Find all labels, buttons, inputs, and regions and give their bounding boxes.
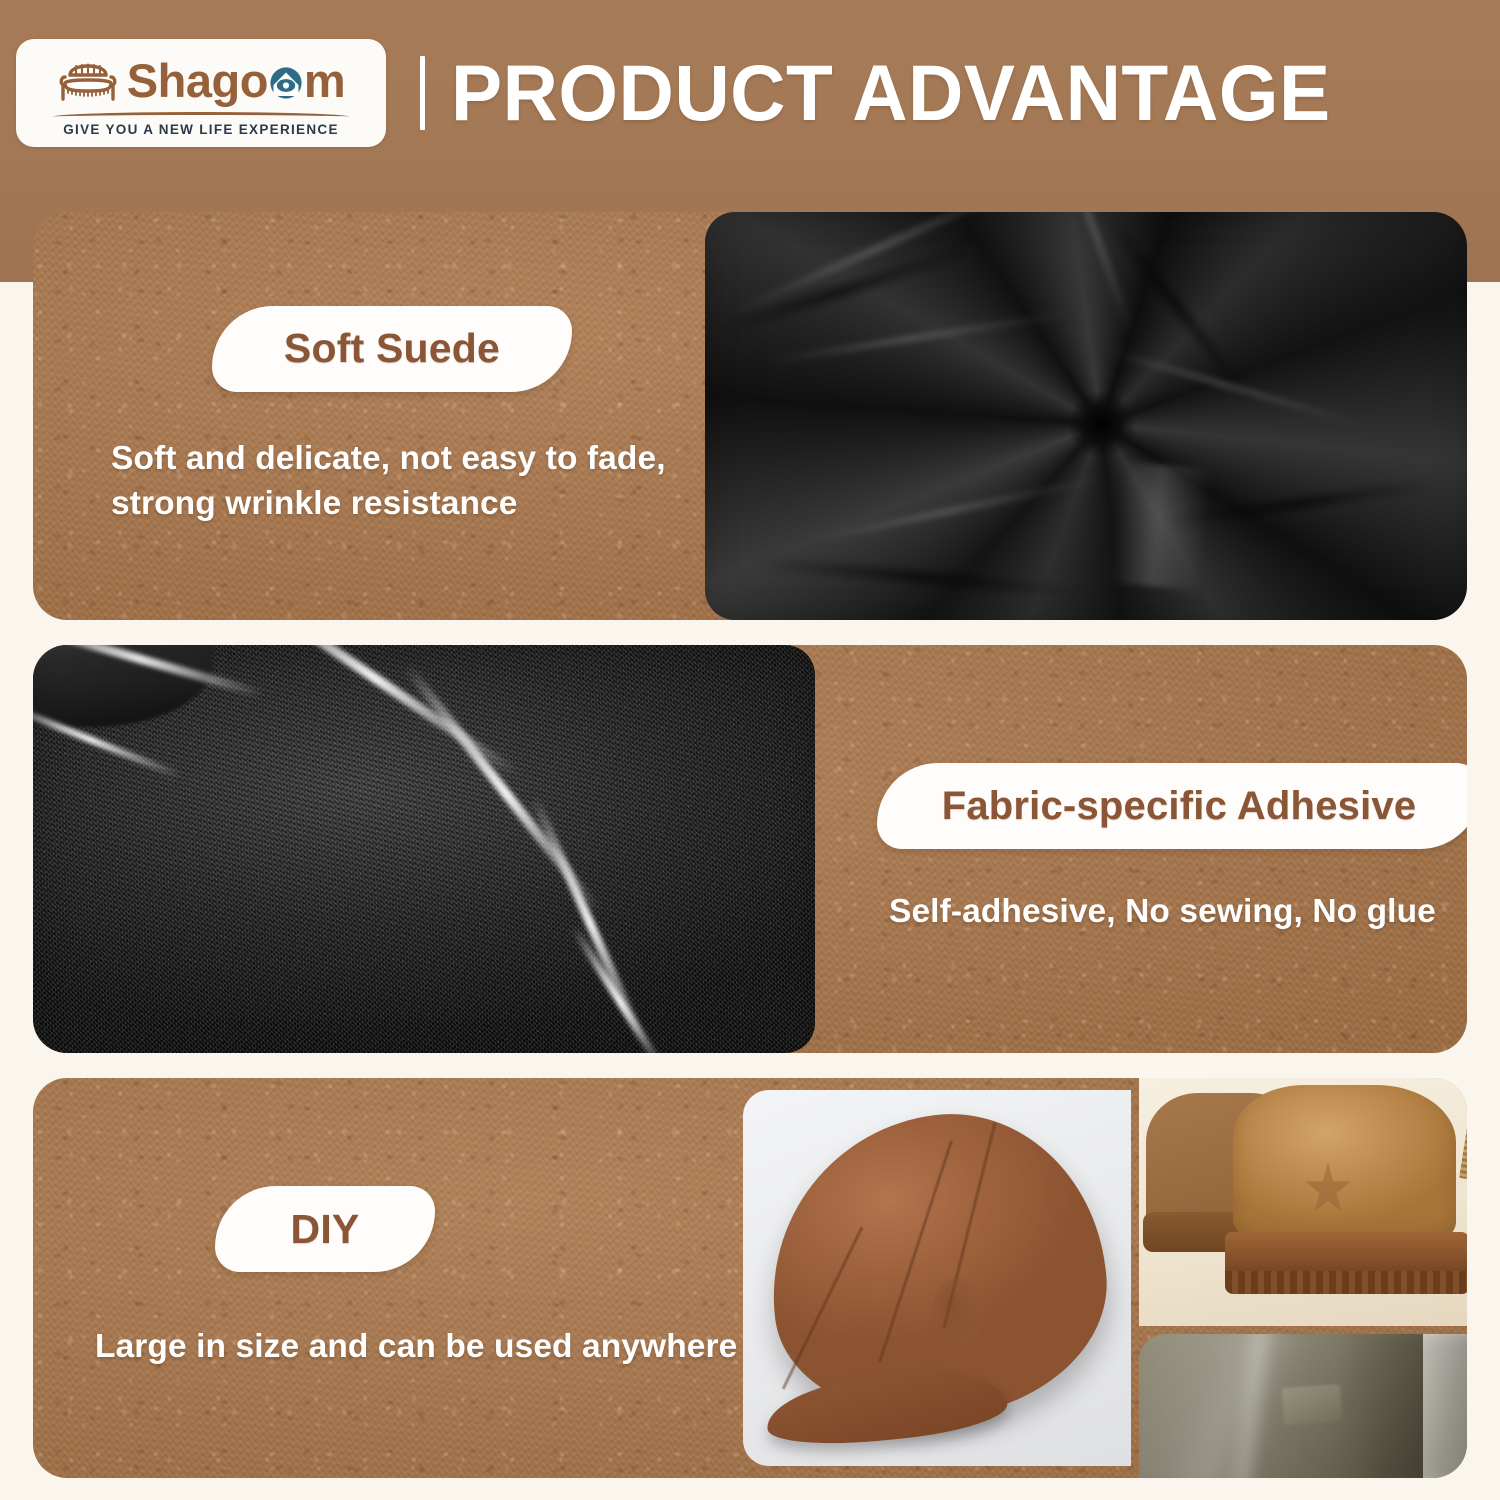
brand-logo-plate: Shag o m GIVE [16,39,386,147]
header-row: Shag o m GIVE [0,0,1500,185]
card-2-description: Self-adhesive, No sewing, No glue [889,889,1436,934]
card-3-description: Large in size and can be used anywhere [95,1324,743,1369]
brown-suede-flat-cap-photo [743,1090,1131,1466]
brand-wordmark: Shag o m [127,57,345,104]
olive-suede-garment-photo [1139,1334,1467,1478]
tan-suede-boot-photo [1139,1078,1467,1326]
card-2-text-block: Fabric-specific Adhesive Self-adhesive, … [815,645,1467,1053]
brand-name-part2: o [240,57,268,104]
card-1-badge: Soft Suede [212,306,572,392]
black-suede-swirl-photo [705,212,1467,620]
card-1-description: Soft and delicate, not easy to fade, str… [111,436,705,526]
eye-o-icon [269,60,303,94]
card-3-badge: DIY [215,1186,435,1272]
page-title: PRODUCT ADVANTAGE [451,53,1331,132]
card-3-description-line1: Large in size and can be used anywhere [95,1324,743,1369]
brand-tagline: GIVE YOU A NEW LIFE EXPERIENCE [63,122,339,137]
brand-rule-divider [51,112,351,119]
title-separator-bar [420,56,425,130]
feature-card-soft-suede: Soft Suede Soft and delicate, not easy t… [33,212,1467,620]
card-1-description-line1: Soft and delicate, not easy to fade, [111,436,705,481]
card-3-photo-collage [743,1078,1467,1478]
black-adhesive-backing-photo [33,645,815,1053]
card-3-text-block: DIY Large in size and can be used anywhe… [33,1078,743,1478]
brand-name-part1: Shag [127,57,240,104]
sofa-icon [57,55,119,107]
card-1-text-block: Soft Suede Soft and delicate, not easy t… [33,212,705,620]
brand-name-part3: m [304,57,345,104]
card-2-description-line1: Self-adhesive, No sewing, No glue [889,889,1436,934]
brand-logo-main: Shag o m [57,51,345,111]
card-2-badge: Fabric-specific Adhesive [877,763,1467,849]
feature-card-diy: DIY Large in size and can be used anywhe… [33,1078,1467,1478]
card-1-description-line2: strong wrinkle resistance [111,481,705,526]
product-advantage-infographic: Shag o m GIVE [0,0,1500,1500]
feature-card-fabric-specific-adhesive: Fabric-specific Adhesive Self-adhesive, … [33,645,1467,1053]
